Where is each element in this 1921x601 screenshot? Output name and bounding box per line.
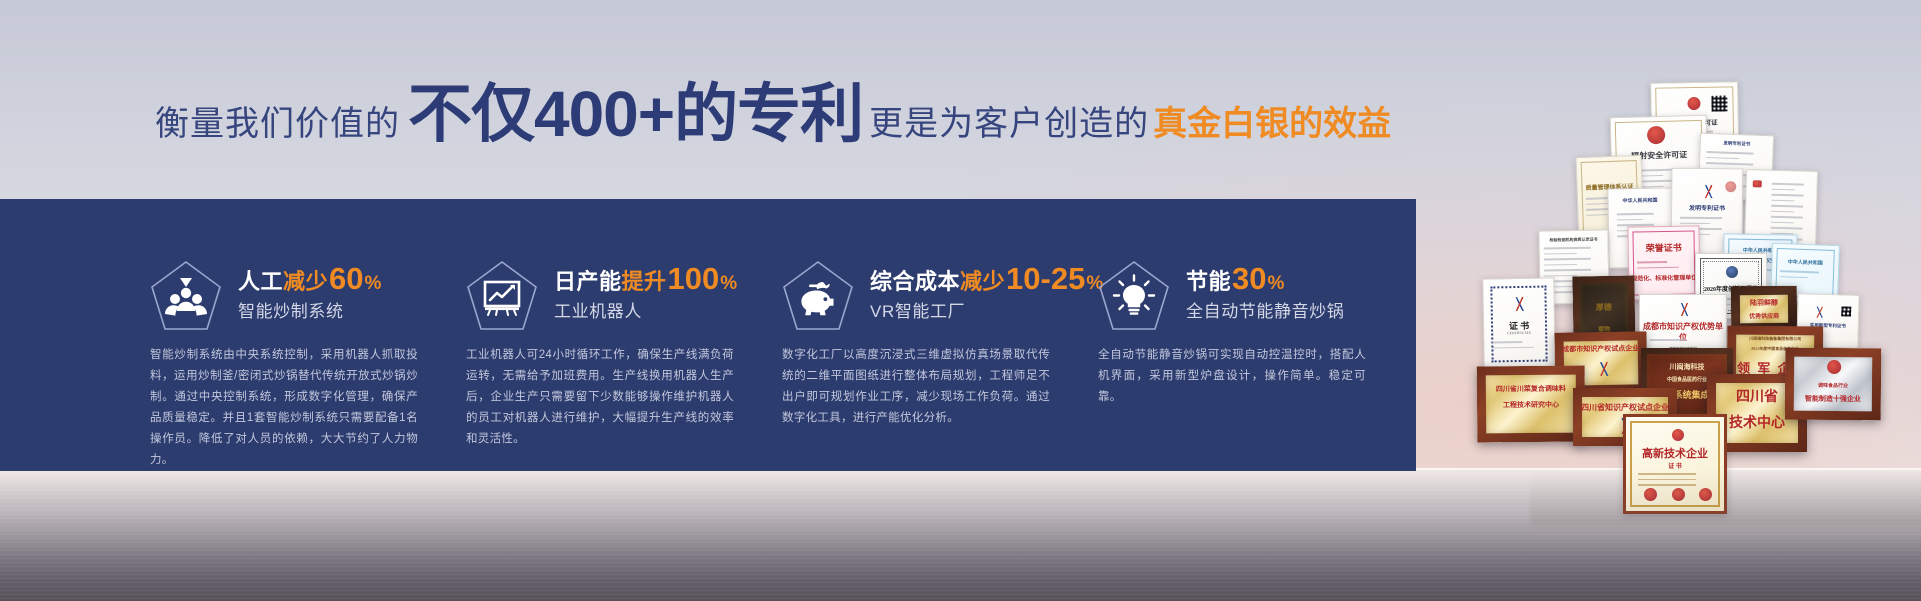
cert-honor: 荣誉证书 规范化、标准化管理单位 [1627,225,1700,300]
feature-2-title-white: 日产能 [554,264,622,296]
feature-3-body: 数字化工厂以高度沉浸式三维虚拟仿真场景取代传统的二维平面图纸进行整体布局规划，工… [782,345,1050,429]
feature-1-body: 智能炒制系统由中央系统控制，采用机器人抓取投料，运用炒制釜/密闭式炒锅替代传统开… [150,345,418,471]
cert-label: 荣誉证书 [1629,240,1699,254]
cert-label: 发明专利证书 [1701,140,1773,149]
feature-block-1: 人工 减少 60 % 智能炒制系统 智能炒制系统由中央系统控制，采用机器人抓取投… [150,199,466,471]
feature-2-unit: % [719,273,737,295]
feature-2-heading: 日产能 提升 100 % [554,261,737,297]
feature-2-subtitle: 工业机器人 [554,297,642,322]
cert-label: 成都市知识产权试点企业 [1555,343,1647,355]
feature-1-number: 60 [328,261,363,297]
headline-emphasis: 不仅400+的专利 [400,82,869,146]
chart-board-icon [466,260,538,332]
feature-block-2: 日产能 提升 100 % 工业机器人 工业机器人可24小时循环工作，确保生产线满… [466,199,782,471]
feature-4-subtitle: 全自动节能静音炒锅 [1186,297,1344,322]
feature-1-title-orange: 减少 [283,264,328,296]
plaque-top-ten-manufacturing: 调味食品行业 智能制造十强企业 [1785,348,1882,421]
feature-1-unit: % [364,273,382,295]
feature-4-title-white: 节能 [1186,264,1231,296]
feature-1-title-white: 人工 [238,264,283,296]
cert-label: 四川省知识产权试点企业 [1573,402,1677,413]
headline-middle: 更是为客户创造的 [869,107,1149,146]
feature-4-heading: 节能 30 % [1186,261,1284,297]
feature-4-unit: % [1267,273,1285,295]
feature-4-body: 全自动节能静音炒锅可实现自动控温控时，搭配人机界面，采用新型炉盘设计，操作简单。… [1098,345,1366,408]
headline-accent: 真金白银的效益 [1149,107,1391,146]
banner-stage: 衡量我们价值的 不仅400+的专利 更是为客户创造的 真金白银的效益 [0,0,1921,601]
feature-1-subtitle: 智能炒制系统 [238,297,344,322]
feature-3-heading: 综合成本 减少 10-25 % [870,261,1103,297]
feature-1-heading: 人工 减少 60 % [238,261,381,297]
cert-label: 优秀供应商 [1731,311,1797,321]
cert-credit: 证 书 CERTIFICATE [1482,277,1556,370]
feature-3-subtitle: VR智能工厂 [870,297,965,322]
headline-lead: 衡量我们价值的 [155,107,400,146]
feature-4-number: 30 [1231,261,1266,297]
features-panel: 人工 减少 60 % 智能炒制系统 智能炒制系统由中央系统控制，采用机器人抓取投… [0,199,1416,471]
feature-2-body: 工业机器人可24小时循环工作，确保生产线满负荷运转，无需给予加班费用。生产线换用… [466,345,734,450]
people-group-icon [150,260,222,332]
feature-block-4: 节能 30 % 全自动节能静音炒锅 全自动节能静音炒锅可实现自动控温控时，搭配人… [1098,199,1414,471]
certificates-pile: 药品生产许可证 辐射安全许可证 发明专利证书 质量管理体系认证 中华人民共和国 [1455,48,1921,523]
feature-block-3: 综合成本 减少 10-25 % VR智能工厂 数字化工厂以高度沉浸式三维虚拟仿真… [782,199,1098,471]
headline: 衡量我们价值的 不仅400+的专利 更是为客户创造的 真金白银的效益 [155,74,1445,146]
plaque-engineering-center: 四川省川菜复合调味料 工程技术研究中心 [1477,366,1586,443]
piggy-bank-icon [782,260,854,332]
certificates-reflection [1530,470,1921,526]
feature-2-number: 100 [667,261,720,297]
lightbulb-icon [1098,260,1170,332]
feature-3-title-white: 综合成本 [870,264,960,296]
feature-2-title-orange: 提升 [622,264,667,296]
feature-3-number: 10-25 [1005,261,1085,297]
feature-3-title-orange: 减少 [960,264,1005,296]
cert-label: 高新技术企业 [1626,445,1724,461]
